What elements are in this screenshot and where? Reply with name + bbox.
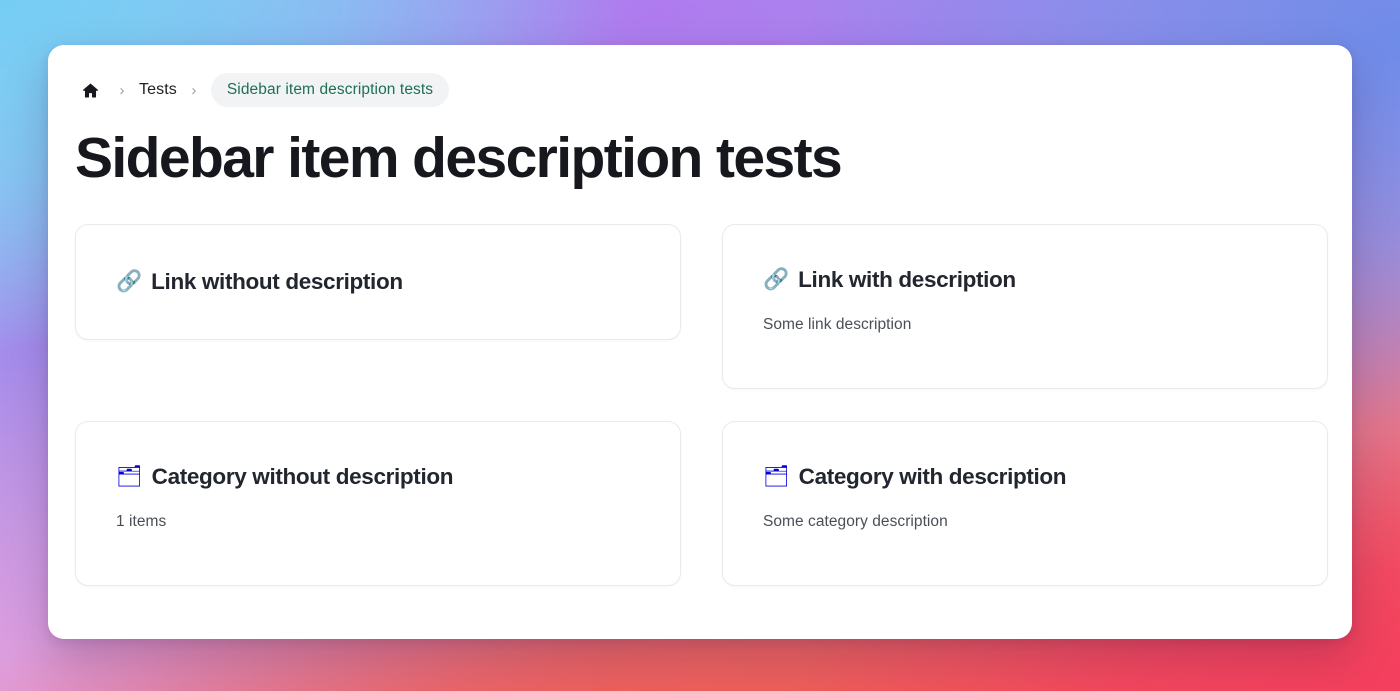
card-header: 🔗 Link with description: [763, 266, 1287, 293]
breadcrumb-current-page: Sidebar item description tests: [211, 73, 449, 107]
card-title: Link with description: [798, 266, 1016, 293]
card-title: Category with description: [799, 463, 1067, 490]
card-title: Link without description: [151, 268, 403, 295]
card-index-dividers-icon: 🗂: [116, 466, 143, 487]
card-header: 🔗 Link without description: [116, 268, 640, 295]
link-icon: 🔗: [763, 269, 789, 290]
card-item-count: 1 items: [116, 512, 640, 533]
desktop-background: › Tests › Sidebar item description tests…: [0, 0, 1400, 691]
panel-content: › Tests › Sidebar item description tests…: [48, 45, 1352, 586]
breadcrumb-separator-2: ›: [177, 83, 211, 98]
card-grid: 🔗 Link without description 🔗 Link with d…: [75, 224, 1326, 586]
link-icon: 🔗: [116, 271, 142, 292]
home-icon[interactable]: [75, 75, 105, 105]
card-header: 🗂 Category with description: [763, 463, 1287, 490]
app-panel: › Tests › Sidebar item description tests…: [48, 45, 1352, 639]
card-title: Category without description: [152, 463, 453, 490]
breadcrumb-item-tests[interactable]: Tests: [139, 81, 177, 99]
card-category-with-description[interactable]: 🗂 Category with description Some categor…: [722, 421, 1328, 586]
card-header: 🗂 Category without description: [116, 463, 640, 490]
card-link-with-description[interactable]: 🔗 Link with description Some link descri…: [722, 224, 1328, 389]
breadcrumb: › Tests › Sidebar item description tests: [75, 73, 1326, 107]
card-description: Some link description: [763, 315, 1287, 336]
card-category-without-description[interactable]: 🗂 Category without description 1 items: [75, 421, 681, 586]
card-description: Some category description: [763, 512, 1287, 533]
card-index-dividers-icon: 🗂: [763, 466, 790, 487]
breadcrumb-separator-1: ›: [105, 83, 139, 98]
page-title: Sidebar item description tests: [75, 128, 1326, 190]
card-link-without-description[interactable]: 🔗 Link without description: [75, 224, 681, 340]
